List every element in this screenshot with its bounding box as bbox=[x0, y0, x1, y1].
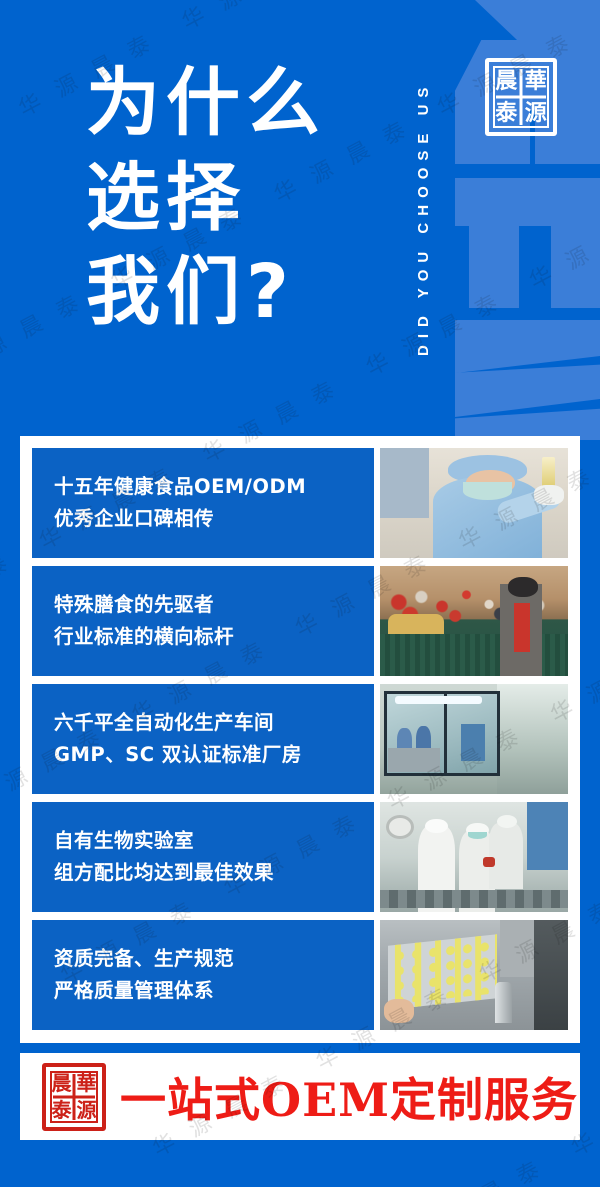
seal-char-1: 晨 bbox=[492, 65, 521, 97]
feature-line-2: 行业标准的横向标杆 bbox=[54, 624, 374, 650]
lab-technician-photo bbox=[380, 448, 568, 558]
packaging-line-workers-photo bbox=[380, 802, 568, 912]
feature-card[interactable]: 自有生物实验室 组方配比均达到最佳效果 bbox=[32, 802, 568, 912]
feature-line-1: 六千平全自动化生产车间 bbox=[54, 710, 374, 736]
feature-line-2: 严格质量管理体系 bbox=[54, 978, 374, 1004]
headline-line-2: 选择 bbox=[86, 151, 326, 246]
feature-card[interactable]: 资质完备、生产规范 严格质量管理体系 bbox=[32, 920, 568, 1030]
feature-line-1: 十五年健康食品OEM/ODM bbox=[54, 474, 374, 500]
cta-banner-text: 一站式OEM定制服务 bbox=[120, 1064, 578, 1130]
cta-banner[interactable]: 晨 華 泰 源 一站式OEM定制服务 bbox=[20, 1053, 580, 1140]
headline-line-1: 为什么 bbox=[86, 56, 326, 151]
feature-card-text: 资质完备、生产规范 严格质量管理体系 bbox=[32, 920, 374, 1030]
feature-card-text: 六千平全自动化生产车间 GMP、SC 双认证标准厂房 bbox=[32, 684, 374, 794]
vertical-english-caption: DID YOU CHOOSE US bbox=[404, 18, 432, 418]
feature-line-2: 组方配比均达到最佳效果 bbox=[54, 860, 374, 886]
conference-audience-photo bbox=[380, 566, 568, 676]
seal-char-3: 泰 bbox=[492, 98, 521, 130]
feature-card[interactable]: 特殊膳食的先驱者 行业标准的横向标杆 bbox=[32, 566, 568, 676]
blister-packing-machine-photo bbox=[380, 920, 568, 1030]
cleanroom-corridor-photo bbox=[380, 684, 568, 794]
seal-char-3: 泰 bbox=[49, 1097, 74, 1124]
watermark-text: 华 源 晨 泰 bbox=[0, 111, 62, 332]
feature-line-1: 资质完备、生产规范 bbox=[54, 946, 374, 972]
seal-char-4: 源 bbox=[74, 1097, 99, 1124]
feature-card-text: 十五年健康食品OEM/ODM 优秀企业口碑相传 bbox=[32, 448, 374, 558]
feature-cards-frame: 十五年健康食品OEM/ODM 优秀企业口碑相传 特殊膳食的先驱者 行业标准的横向… bbox=[20, 436, 580, 1043]
page-title: 为什么 选择 我们? bbox=[86, 56, 326, 340]
company-seal-logo-top: 晨 華 泰 源 bbox=[485, 58, 557, 136]
feature-line-1: 特殊膳食的先驱者 bbox=[54, 592, 374, 618]
seal-char-4: 源 bbox=[522, 98, 551, 130]
feature-line-2: 优秀企业口碑相传 bbox=[54, 506, 374, 532]
seal-char-2: 華 bbox=[522, 65, 551, 97]
feature-card-text: 特殊膳食的先驱者 行业标准的横向标杆 bbox=[32, 566, 374, 676]
feature-card-text: 自有生物实验室 组方配比均达到最佳效果 bbox=[32, 802, 374, 912]
seal-char-2: 華 bbox=[74, 1070, 99, 1097]
company-seal-logo-bottom: 晨 華 泰 源 bbox=[42, 1063, 106, 1131]
feature-line-2: GMP、SC 双认证标准厂房 bbox=[54, 742, 374, 768]
poster-root: 为什么 选择 我们? DID YOU CHOOSE US 晨 華 泰 源 十五年… bbox=[0, 0, 600, 1187]
watermark-text: 华 源 晨 泰 bbox=[401, 1150, 600, 1187]
feature-card[interactable]: 六千平全自动化生产车间 GMP、SC 双认证标准厂房 bbox=[32, 684, 568, 794]
feature-line-1: 自有生物实验室 bbox=[54, 828, 374, 854]
seal-char-1: 晨 bbox=[49, 1070, 74, 1097]
headline-line-3: 我们? bbox=[86, 245, 326, 340]
feature-card[interactable]: 十五年健康食品OEM/ODM 优秀企业口碑相传 bbox=[32, 448, 568, 558]
